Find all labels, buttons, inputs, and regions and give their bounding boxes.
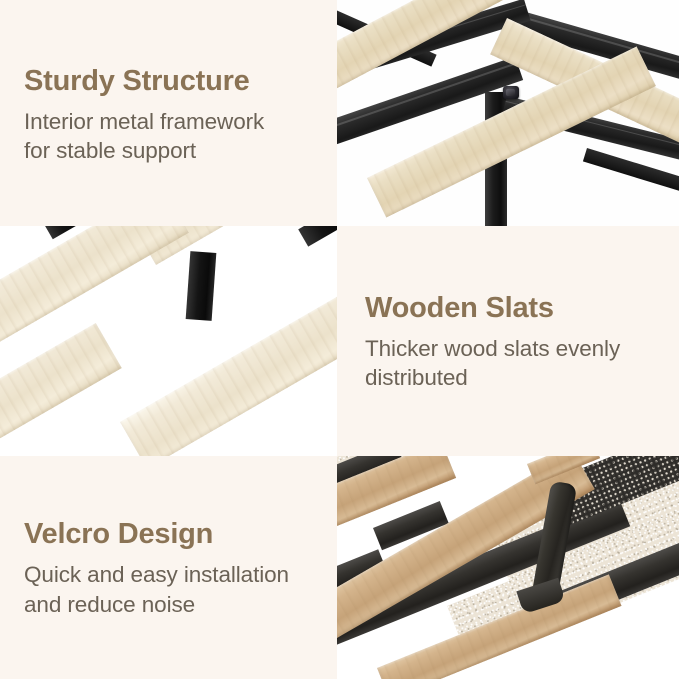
feature-heading-wooden-slats: Wooden Slats: [365, 292, 657, 325]
metal-nub-upper-right: [298, 226, 337, 247]
feature-infographic: Sturdy Structure Interior metal framewor…: [0, 0, 679, 679]
feature-subtitle-velcro-design: Quick and easy installation and reduce n…: [24, 560, 315, 619]
subtitle-line-2: and reduce noise: [24, 590, 315, 619]
subtitle-line-1: Interior metal framework: [24, 107, 315, 136]
feature-photo-velcro-design: [337, 456, 679, 679]
feature-text-wooden-slats: Wooden Slats Thicker wood slats evenly d…: [337, 226, 679, 456]
subtitle-line-1: Quick and easy installation: [24, 560, 315, 589]
wooden-slats-illustration: [0, 226, 337, 456]
wood-grain-texture: [120, 257, 337, 456]
subtitle-line-2: for stable support: [24, 136, 315, 165]
wood-slat-4: [0, 323, 122, 456]
feature-subtitle-wooden-slats: Thicker wood slats evenly distributed: [365, 334, 657, 393]
wood-slat-5: [120, 257, 337, 456]
subtitle-line-1: Thicker wood slats evenly: [365, 334, 657, 363]
metal-leg: [186, 251, 217, 321]
velcro-illustration: [337, 456, 679, 679]
wood-grain-texture: [0, 323, 122, 456]
subtitle-line-2: distributed: [365, 363, 657, 392]
feature-text-sturdy-structure: Sturdy Structure Interior metal framewor…: [0, 0, 337, 226]
feature-photo-wooden-slats: [0, 226, 337, 456]
feature-heading-velcro-design: Velcro Design: [24, 518, 315, 551]
feature-photo-sturdy-structure: [337, 0, 679, 226]
feature-text-velcro-design: Velcro Design Quick and easy installatio…: [0, 456, 337, 679]
bolt-fastener: [503, 86, 519, 99]
metal-framework-illustration: [337, 0, 679, 226]
feature-heading-sturdy-structure: Sturdy Structure: [24, 65, 315, 98]
feature-subtitle-sturdy-structure: Interior metal framework for stable supp…: [24, 107, 315, 166]
